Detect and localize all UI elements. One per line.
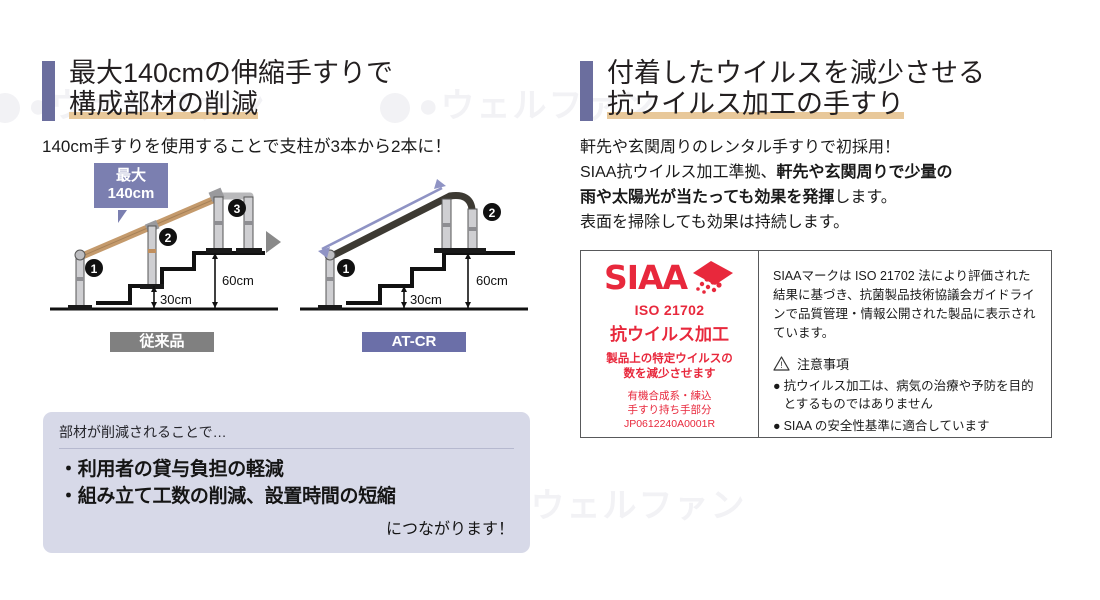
warning-triangle-icon: ! [773, 356, 790, 371]
right-heading-line2-wrap: 抗ウイルス加工の手すり [607, 89, 904, 120]
benefits-item-2: ・組み立て工数の削減、設置時間の短縮 [59, 483, 514, 510]
benefits-footer: につながります！ [59, 515, 514, 539]
body-line-3b: します。 [834, 189, 896, 206]
svg-text:1: 1 [91, 262, 98, 276]
caution-title: 注意事項 [797, 354, 849, 373]
svg-text:1: 1 [343, 262, 350, 276]
svg-text:3: 3 [234, 202, 241, 216]
siaa-wordmark: SIAA [604, 263, 687, 293]
svg-text:2: 2 [489, 206, 496, 220]
siaa-explain-text: SIAAマークは ISO 21702 法により評価された結果に基づき、抗菌製品技… [773, 267, 1041, 343]
svg-text:30cm: 30cm [410, 292, 442, 307]
siaa-desc: 製品上の特定ウイルスの 数を減少させます [606, 352, 733, 382]
diagram-atcr: 30cm 60cm 1 2 [300, 169, 530, 334]
siaa-iso-label: ISO 21702 [635, 302, 705, 318]
body-line-2: SIAA抗ウイルス加工準拠、軒先や玄関周りで少量の [580, 160, 1060, 185]
svg-text:!: ! [780, 360, 783, 370]
caution-item-2: ● SIAA の安全性基準に適合しています [773, 417, 1041, 435]
right-body: 軒先や玄関周りのレンタル手すりで初採用！ SIAA抗ウイルス加工準拠、軒先や玄関… [580, 135, 1060, 235]
body-line-1: 軒先や玄関周りのレンタル手すりで初採用！ [580, 135, 1060, 160]
benefits-item-1: ・利用者の貸与負担の軽減 [59, 456, 514, 483]
siaa-detail: 有機合成系・練込 手すり持ち手部分 JP0612240A0001R [624, 389, 715, 431]
left-heading-line2: 構成部材の削減 [69, 89, 258, 119]
siaa-logo: SIAA [604, 263, 735, 299]
right-column: 付着したウイルスを減少させる 抗ウイルス加工の手すり 軒先や玄関周りのレンタル手… [580, 58, 1060, 235]
right-heading-line1: 付着したウイルスを減少させる [607, 58, 985, 89]
heading-accent-bar-right [580, 61, 593, 121]
left-heading-line1: 最大140cmの伸縮手すりで [69, 58, 393, 89]
siaa-jp-label: 抗ウイルス加工 [610, 320, 729, 345]
left-heading-line2-wrap: 構成部材の削減 [69, 89, 258, 120]
max-length-badge: 最大 140cm [94, 163, 168, 208]
post-1 [318, 250, 342, 310]
siaa-diamond-icon [685, 259, 735, 299]
svg-text:30cm: 30cm [160, 292, 192, 307]
badge-tail-icon [118, 210, 127, 223]
left-subtitle: 140cm手すりを使用することで支柱が3本から2本に！ [42, 135, 542, 159]
svg-text:60cm: 60cm [476, 273, 508, 288]
stair-diagrams: 30cm 60cm 1 2 3 [42, 169, 542, 364]
caution-text-2: SIAA の安全性基準に適合しています [784, 417, 990, 435]
caution-text-1: 抗ウイルス加工は、病気の治療や予防を目的とするものではありません [784, 377, 1041, 413]
caution-bullet-1: ● [773, 377, 781, 413]
post-2 [434, 199, 486, 253]
caution-item-1: ● 抗ウイルス加工は、病気の治療や予防を目的とするものではありません [773, 377, 1041, 413]
siaa-mark: SIAA ISO 21702 抗ウイルス加工 製品上の特定ウイルスの 数を減少さ… [581, 251, 759, 437]
body-line-4: 表面を掃除しても効果は持続します。 [580, 210, 1060, 235]
body-line-2a: SIAA抗ウイルス加工準拠、 [580, 164, 776, 181]
transition-arrow-icon [266, 231, 281, 253]
left-heading: 最大140cmの伸縮手すりで 構成部材の削減 [42, 58, 542, 121]
svg-text:2: 2 [165, 231, 172, 245]
left-column: 最大140cmの伸縮手すりで 構成部材の削減 140cm手すりを使用することで支… [42, 58, 542, 364]
tag-conventional: 従来品 [110, 332, 214, 352]
heading-accent-bar [42, 61, 55, 121]
siaa-explanation-panel: SIAAマークは ISO 21702 法により評価された結果に基づき、抗菌製品技… [759, 251, 1051, 437]
post-1 [68, 250, 92, 310]
right-heading: 付着したウイルスを減少させる 抗ウイルス加工の手すり [580, 58, 1060, 121]
body-line-2b: 軒先や玄関周りで少量の [776, 164, 952, 181]
caution-header: ! 注意事項 [773, 354, 1041, 373]
caution-bullet-2: ● [773, 417, 781, 435]
body-line-3: 雨や太陽光が当たっても効果を発揮します。 [580, 185, 1060, 210]
svg-text:60cm: 60cm [222, 273, 254, 288]
benefits-header: 部材が削減されることで… [59, 422, 514, 449]
right-heading-line2: 抗ウイルス加工の手すり [607, 89, 904, 119]
body-line-3a: 雨や太陽光が当たっても効果を発揮 [580, 189, 834, 206]
benefits-box: 部材が削減されることで… ・利用者の貸与負担の軽減 ・組み立て工数の削減、設置時… [43, 412, 530, 553]
siaa-certification-box: SIAA ISO 21702 抗ウイルス加工 製品上の特定ウイルスの 数を減少さ… [580, 250, 1052, 438]
tag-atcr: AT-CR [362, 332, 466, 352]
